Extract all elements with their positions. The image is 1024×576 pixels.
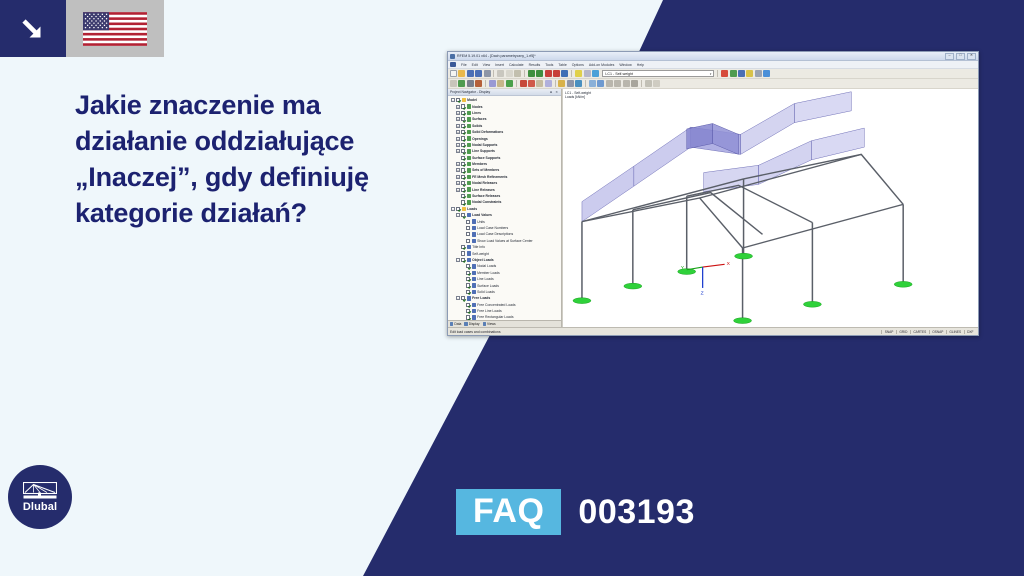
tree-item-label: Free Loads	[472, 296, 490, 300]
toolbar-separator	[571, 70, 572, 77]
tree-spacer	[456, 156, 460, 160]
visibility-checkbox[interactable]	[461, 117, 465, 121]
paste-icon[interactable]	[514, 70, 521, 77]
expand-toggle-icon[interactable]: +	[456, 130, 460, 134]
zoom-out-icon[interactable]	[553, 70, 560, 77]
status-cell-osnap[interactable]: OSNAP	[929, 330, 946, 334]
chevron-down-icon[interactable]: ▾	[710, 72, 712, 76]
save-all-icon[interactable]	[475, 70, 482, 77]
tree-item-icon	[462, 98, 466, 102]
rfem-app-icon	[450, 54, 455, 59]
member-load-icon[interactable]	[536, 80, 543, 87]
tree-spacer	[461, 309, 465, 313]
expand-toggle-icon[interactable]: +	[456, 105, 460, 109]
calculate-icon[interactable]	[592, 70, 599, 77]
navigator-tab-data[interactable]: Data	[450, 322, 461, 326]
tree-item-icon	[467, 143, 471, 147]
visibility-checkbox[interactable]	[461, 104, 465, 108]
navigator-header: Project Navigator - Display ⊞ ✕	[448, 89, 561, 96]
tree-item-label: Units	[477, 220, 485, 224]
render-icon[interactable]	[575, 70, 582, 77]
zoom-all-icon[interactable]	[561, 70, 568, 77]
navigator-tree[interactable]: -Model+Nodes+Lines+Surfaces+Solids+Solid…	[448, 96, 561, 320]
visibility-checkbox[interactable]	[466, 309, 470, 313]
collapse-toggle-icon[interactable]: -	[456, 296, 460, 300]
navigator-tabs[interactable]: Data Display Views	[448, 320, 561, 327]
tree-spacer	[461, 264, 465, 268]
menu-item-view[interactable]: View	[483, 63, 491, 67]
visibility-checkbox[interactable]	[461, 245, 465, 249]
tree-spacer	[461, 284, 465, 288]
tree-item-label: Line Releases	[472, 188, 495, 192]
collapse-toggle-icon[interactable]: -	[456, 213, 460, 217]
status-indicators[interactable]: SNAP GRID CARTES OSNAP GLINES DXF	[881, 330, 976, 334]
toolbar-separator	[524, 70, 525, 77]
visibility-checkbox[interactable]	[466, 220, 470, 224]
visibility-checkbox[interactable]	[466, 303, 470, 307]
deform-icon[interactable]	[730, 70, 737, 77]
solid-tool-icon[interactable]	[497, 80, 504, 87]
toolbar-primary[interactable]: LC1 - Self-weight ▾	[448, 69, 978, 79]
select-icon[interactable]	[450, 80, 457, 87]
tree-item-icon	[472, 277, 476, 281]
new-file-icon[interactable]	[450, 70, 457, 77]
visibility-checkbox[interactable]	[461, 156, 465, 160]
expand-toggle-icon[interactable]: +	[456, 149, 460, 153]
tree-item-icon	[472, 315, 476, 319]
cut-icon[interactable]	[497, 70, 504, 77]
navigator-tab-display[interactable]: Display	[464, 322, 479, 326]
expand-toggle-icon[interactable]: +	[456, 168, 460, 172]
free-load-icon[interactable]	[558, 80, 565, 87]
navigator-header-buttons[interactable]: ⊞ ✕	[550, 90, 559, 94]
tree-item-label: Show Load Values at Surface Center	[477, 239, 533, 243]
expand-toggle-icon[interactable]: +	[456, 188, 460, 192]
tree-item-label: Surface Supports	[472, 156, 500, 160]
toolbar-separator	[641, 80, 642, 87]
visibility-checkbox[interactable]	[461, 213, 465, 217]
printout-icon[interactable]	[755, 70, 762, 77]
tree-item-label: Nodal Constraints	[472, 200, 501, 204]
menu-item-edit[interactable]: Edit	[472, 63, 478, 67]
view-top-icon[interactable]	[614, 80, 621, 87]
tree-item-icon	[472, 271, 476, 275]
print-icon[interactable]	[484, 70, 491, 77]
tree-spacer	[461, 220, 465, 224]
tree-item-label: Nodal Supports	[472, 143, 497, 147]
tree-item-label: Object Loads	[472, 258, 493, 262]
rfem-application-window[interactable]: RFEM 5.19.01 x64 - [Dach parametryczny_1…	[447, 51, 979, 336]
faq-footer: FAQ 003193	[456, 489, 695, 535]
tree-item-icon	[467, 258, 471, 262]
load-tool-icon[interactable]	[520, 80, 527, 87]
tree-item-icon	[467, 104, 471, 108]
tree-item-label: Loads	[467, 207, 477, 211]
tree-item-label: Nodal Loads	[477, 264, 496, 268]
tree-item-label: Surface Releases	[472, 194, 500, 198]
load-case-select[interactable]: LC1 - Self-weight ▾	[602, 70, 714, 77]
toolbar-separator	[585, 80, 586, 87]
tree-spacer	[456, 252, 460, 256]
undo-icon[interactable]	[528, 70, 535, 77]
visibility-checkbox[interactable]	[466, 232, 470, 236]
tree-item-icon	[472, 303, 476, 307]
tree-item-label: Model	[467, 98, 477, 102]
tree-spacer	[461, 239, 465, 243]
tree-spacer	[456, 200, 460, 204]
tree-item-icon	[467, 111, 471, 115]
tree-spacer	[461, 290, 465, 294]
project-navigator[interactable]: Project Navigator - Display ⊞ ✕ -Model+N…	[448, 89, 562, 327]
save-icon[interactable]	[467, 70, 474, 77]
tree-item-icon	[467, 130, 471, 134]
tree-item-icon	[467, 168, 471, 172]
tree-spacer	[461, 226, 465, 230]
status-cell-glines[interactable]: GLINES	[946, 330, 964, 334]
expand-toggle-icon[interactable]: +	[456, 175, 460, 179]
menu-item-results[interactable]: Results	[529, 63, 541, 67]
visibility-checkbox[interactable]	[466, 315, 470, 319]
status-message: Edit load cases and combinations	[450, 330, 501, 334]
tree-item-label: Free Line Loads	[477, 309, 502, 313]
tree-item-label: Line Supports	[472, 149, 495, 153]
visibility-checkbox[interactable]	[466, 283, 470, 287]
tree-item-label: Title Info	[472, 245, 485, 249]
tree-item-icon	[472, 232, 476, 236]
view-iso-icon[interactable]	[631, 80, 638, 87]
status-bar: Edit load cases and combinations SNAP GR…	[448, 327, 978, 335]
tree-item-label: Nodal Releases	[472, 181, 497, 185]
tree-item-icon	[467, 124, 471, 128]
tree-item-label: Load Values	[472, 213, 492, 217]
visibility-checkbox[interactable]	[461, 194, 465, 198]
faq-number: 003193	[578, 495, 694, 529]
menu-item-calculate[interactable]: Calculate	[509, 63, 524, 67]
tree-item-icon	[467, 245, 471, 249]
surface-load-icon[interactable]	[545, 80, 552, 87]
structural-model-3d[interactable]: X Y Z	[563, 89, 978, 327]
surface-tool-icon[interactable]	[489, 80, 496, 87]
visibility-checkbox[interactable]	[461, 162, 465, 166]
visibility-checkbox[interactable]	[461, 111, 465, 115]
tree-item-icon	[467, 187, 471, 191]
menu-item-options[interactable]: Options	[572, 63, 584, 67]
tree-item-label: Solids	[472, 124, 482, 128]
dimension-icon[interactable]	[645, 80, 652, 87]
work-area: Project Navigator - Display ⊞ ✕ -Model+N…	[448, 89, 978, 327]
tree-item-icon	[472, 219, 476, 223]
tree-item-label: Nodes	[472, 105, 482, 109]
tree-spacer	[461, 315, 465, 319]
menu-item-window[interactable]: Window	[619, 63, 631, 67]
arrow-down-right-icon	[0, 0, 66, 57]
tree-spacer	[461, 303, 465, 307]
tree-item-label: Member Loads	[477, 271, 500, 275]
tree-spacer	[461, 277, 465, 281]
menu-item-insert[interactable]: Insert	[495, 63, 504, 67]
window-controls[interactable]: – □ ✕	[945, 53, 976, 60]
wireframe-icon[interactable]	[584, 70, 591, 77]
language-badge-bar	[0, 0, 164, 57]
tree-item-icon	[467, 162, 471, 166]
faq-badge: FAQ	[456, 489, 561, 535]
expand-toggle-icon[interactable]: +	[456, 181, 460, 185]
views-tab-icon	[483, 322, 486, 325]
tree-item-label: Sets of Members	[472, 168, 499, 172]
visibility-checkbox[interactable]	[461, 143, 465, 147]
close-button[interactable]: ✕	[967, 53, 976, 60]
navigator-tab-label: Display	[469, 322, 480, 326]
navigator-tab-label: Data	[454, 322, 461, 326]
nodal-load-icon[interactable]	[528, 80, 535, 87]
tree-item-icon	[467, 117, 471, 121]
toolbar-separator	[717, 70, 718, 77]
truss-frame-icon	[23, 482, 57, 501]
node-tool-icon[interactable]	[458, 80, 465, 87]
tree-item-label: Solid Loads	[477, 290, 495, 294]
menu-item-addon-modules[interactable]: Add-on Modules	[589, 63, 615, 67]
visibility-checkbox[interactable]	[461, 175, 465, 179]
tree-spacer	[456, 194, 460, 198]
visibility-checkbox[interactable]	[466, 226, 470, 230]
visibility-checkbox[interactable]	[466, 290, 470, 294]
logo-wordmark: Dlubal	[23, 502, 57, 513]
visibility-checkbox[interactable]	[461, 188, 465, 192]
tree-item-label: FE Mesh Refinements	[472, 175, 507, 179]
tree-item-icon	[467, 200, 471, 204]
line-tool-icon[interactable]	[467, 80, 474, 87]
data-tab-icon	[450, 322, 453, 325]
visibility-checkbox[interactable]	[456, 98, 460, 102]
display-tab-icon	[464, 322, 467, 325]
visibility-checkbox[interactable]	[466, 277, 470, 281]
menu-item-table[interactable]: Table	[558, 63, 566, 67]
toolbar-separator	[493, 70, 494, 77]
navigator-tab-label: Views	[487, 322, 496, 326]
tree-item-label: Line Loads	[477, 277, 494, 281]
status-cell-grid[interactable]: GRID	[896, 330, 910, 334]
tree-item-label: Surfaces	[472, 117, 486, 121]
tree-item-icon	[467, 149, 471, 153]
usa-flag-icon	[66, 0, 164, 57]
expand-toggle-icon[interactable]: +	[456, 111, 460, 115]
tree-item-label: Load Case Descriptions	[477, 232, 513, 236]
dlubal-menu-icon	[450, 62, 456, 67]
visibility-checkbox[interactable]	[466, 271, 470, 275]
tree-spacer	[456, 245, 460, 249]
expand-toggle-icon[interactable]: +	[456, 117, 460, 121]
visibility-checkbox[interactable]	[461, 251, 465, 255]
view-front-icon[interactable]	[606, 80, 613, 87]
toolbar-secondary[interactable]	[448, 79, 978, 89]
window-titlebar[interactable]: RFEM 5.19.01 x64 - [Dach parametryczny_1…	[448, 52, 978, 61]
redo-icon[interactable]	[536, 70, 543, 77]
visibility-checkbox[interactable]	[461, 181, 465, 185]
expand-toggle-icon[interactable]: +	[456, 143, 460, 147]
help-icon[interactable]	[763, 70, 770, 77]
expand-toggle-icon[interactable]: +	[456, 137, 460, 141]
tree-item-icon	[472, 283, 476, 287]
tree-item-label: Free Concentrated Loads	[477, 303, 515, 307]
tree-item-label: Self-weight	[472, 252, 489, 256]
tree-item-icon	[467, 194, 471, 198]
status-cell-snap[interactable]: SNAP	[881, 330, 896, 334]
tree-item-label: Load Case Numbers	[477, 226, 508, 230]
tree-item-label: Members	[472, 162, 487, 166]
visibility-checkbox[interactable]	[456, 207, 460, 211]
tree-item-label: Free Rectangular Loads	[477, 315, 513, 319]
visibility-checkbox[interactable]	[461, 136, 465, 140]
visibility-checkbox[interactable]	[461, 130, 465, 134]
view-side-icon[interactable]	[623, 80, 630, 87]
menu-bar[interactable]: File Edit View Insert Calculate Results …	[448, 61, 978, 69]
tree-item-icon	[472, 239, 476, 243]
support-tool-icon[interactable]	[506, 80, 513, 87]
tree-item-label: Surface Loads	[477, 284, 499, 288]
visibility-checkbox[interactable]	[461, 200, 465, 204]
copy-icon[interactable]	[506, 70, 513, 77]
toolbar-separator	[555, 80, 556, 87]
toolbar-separator	[485, 80, 486, 87]
mesh-icon[interactable]	[589, 80, 596, 87]
minimize-button[interactable]: –	[945, 53, 954, 60]
snap-settings-icon[interactable]	[653, 80, 660, 87]
fe-mesh-icon[interactable]	[597, 80, 604, 87]
tree-spacer	[461, 271, 465, 275]
tree-item-label: Solid Deformations	[472, 130, 503, 134]
tree-item-label: Lines	[472, 111, 481, 115]
page-title: Jakie znaczenie ma działanie oddziałując…	[75, 88, 405, 232]
dlubal-logo: Dlubal	[8, 465, 72, 529]
generate-load-icon[interactable]	[575, 80, 582, 87]
visibility-checkbox[interactable]	[461, 149, 465, 153]
collapse-toggle-icon[interactable]: -	[451, 98, 455, 102]
visibility-checkbox[interactable]	[466, 239, 470, 243]
collapse-toggle-icon[interactable]: -	[456, 258, 460, 262]
expand-toggle-icon[interactable]: +	[456, 162, 460, 166]
status-cell-dxf[interactable]: DXF	[964, 330, 976, 334]
zoom-in-icon[interactable]	[545, 70, 552, 77]
coordinate-axes-triad: X Y Z	[681, 261, 731, 296]
tree-item-icon	[472, 226, 476, 230]
section-icon[interactable]	[738, 70, 745, 77]
visibility-checkbox[interactable]	[466, 264, 470, 268]
toolbar-separator	[516, 80, 517, 87]
tree-item-icon	[467, 156, 471, 160]
tree-item-icon	[467, 251, 471, 255]
open-file-icon[interactable]	[458, 70, 465, 77]
model-viewport[interactable]: LC1 - Self-weight Loads [kN/m]	[562, 89, 978, 327]
axis-label-z: Z	[701, 290, 704, 296]
navigator-title: Project Navigator - Display	[450, 90, 490, 94]
tree-item-label: Openings	[472, 137, 488, 141]
status-cell-cartes[interactable]: CARTES	[910, 330, 929, 334]
visibility-checkbox[interactable]	[461, 168, 465, 172]
menu-item-tools[interactable]: Tools	[545, 63, 553, 67]
visibility-checkbox[interactable]	[461, 258, 465, 262]
visibility-checkbox[interactable]	[461, 296, 465, 300]
slide-canvas: Jakie znaczenie ma działanie oddziałując…	[0, 0, 1024, 576]
tree-item-icon	[467, 175, 471, 179]
axis-label-x: X	[727, 261, 731, 267]
tree-item-icon	[462, 207, 466, 211]
tree-item-icon	[467, 136, 471, 140]
collapse-toggle-icon[interactable]: -	[451, 207, 455, 211]
member-tool-icon[interactable]	[475, 80, 482, 87]
table-icon[interactable]	[746, 70, 753, 77]
results-icon[interactable]	[721, 70, 728, 77]
visibility-checkbox[interactable]	[461, 124, 465, 128]
tree-item-icon	[467, 296, 471, 300]
navigator-tab-views[interactable]: Views	[483, 322, 496, 326]
tree-spacer	[461, 232, 465, 236]
imperfection-icon[interactable]	[567, 80, 574, 87]
expand-toggle-icon[interactable]: +	[456, 124, 460, 128]
tree-item-icon	[472, 264, 476, 268]
window-title: RFEM 5.19.01 x64 - [Dach parametryczny_1…	[457, 54, 536, 58]
menu-item-help[interactable]: Help	[637, 63, 644, 67]
maximize-button[interactable]: □	[956, 53, 965, 60]
load-case-value: LC1 - Self-weight	[605, 72, 633, 76]
menu-item-file[interactable]: File	[461, 63, 467, 67]
tree-item-icon	[467, 181, 471, 185]
tree-item-icon	[472, 309, 476, 313]
tree-item-icon	[472, 290, 476, 294]
tree-item-icon	[467, 213, 471, 217]
